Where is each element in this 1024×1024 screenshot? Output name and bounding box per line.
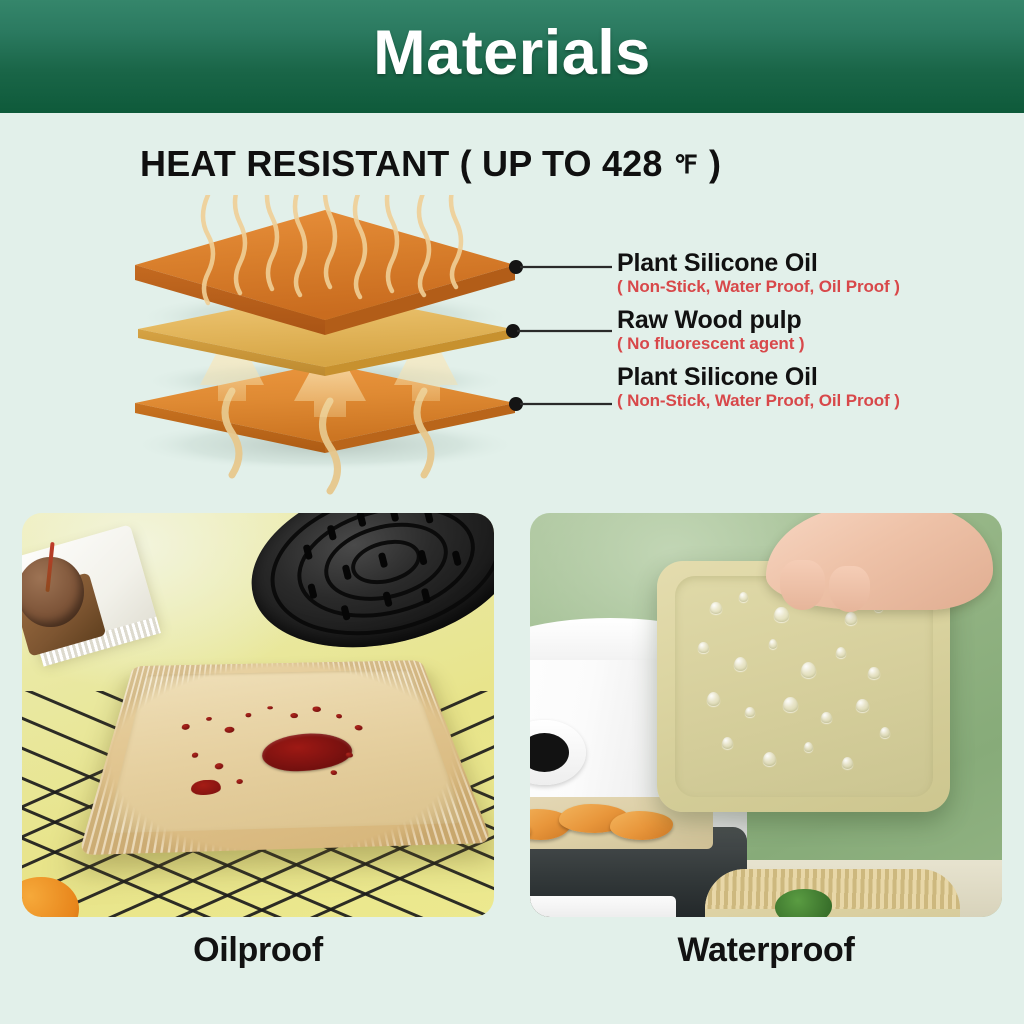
burger-bun: [22, 557, 84, 627]
second-liner-on-counter: [705, 869, 960, 917]
photo-oilproof: [22, 513, 494, 917]
header-banner: Materials: [0, 0, 1024, 113]
heat-heading-suffix: ): [699, 143, 721, 184]
liner-fluted-edge: [705, 869, 960, 910]
callout-bottom-properties: ( Non-Stick, Water Proof, Oil Proof ): [617, 391, 900, 411]
caption-oilproof: Oilproof: [22, 931, 494, 970]
callout-layer-top: Plant Silicone Oil ( Non-Stick, Water Pr…: [617, 250, 900, 297]
broccoli-garnish: [775, 889, 832, 917]
degree-fahrenheit-symbol: ℉: [673, 152, 699, 179]
connector-group: [506, 260, 612, 411]
callout-top-title: Plant Silicone Oil: [617, 250, 900, 276]
callout-layer-middle: Raw Wood pulp ( No fluorescent agent ): [617, 307, 804, 354]
callout-top-properties: ( Non-Stick, Water Proof, Oil Proof ): [617, 277, 900, 297]
photo-oilproof-scene: [22, 513, 494, 917]
burger-on-tray: [22, 529, 145, 654]
layer-diagram: [0, 195, 1024, 495]
heat-resistant-heading: HEAT RESISTANT ( UP TO 428 ℉ ): [140, 143, 721, 185]
air-fryer-handle: [530, 896, 676, 917]
photo-waterproof: [530, 513, 1002, 917]
heat-heading-prefix: HEAT RESISTANT ( UP TO 428: [140, 143, 673, 184]
photo-waterproof-scene: [530, 513, 1002, 917]
chicken-nugget: [610, 811, 673, 840]
page-title: Materials: [373, 22, 651, 91]
hand-holding-liner: [766, 513, 993, 610]
callout-middle-properties: ( No fluorescent agent ): [617, 334, 804, 354]
paper-liner-with-sauce: [78, 660, 491, 855]
caption-waterproof: Waterproof: [530, 931, 1002, 970]
callout-layer-bottom: Plant Silicone Oil ( Non-Stick, Water Pr…: [617, 364, 900, 411]
layer-diagram-svg: [0, 195, 1024, 495]
callout-middle-title: Raw Wood pulp: [617, 307, 804, 333]
callout-bottom-title: Plant Silicone Oil: [617, 364, 900, 390]
